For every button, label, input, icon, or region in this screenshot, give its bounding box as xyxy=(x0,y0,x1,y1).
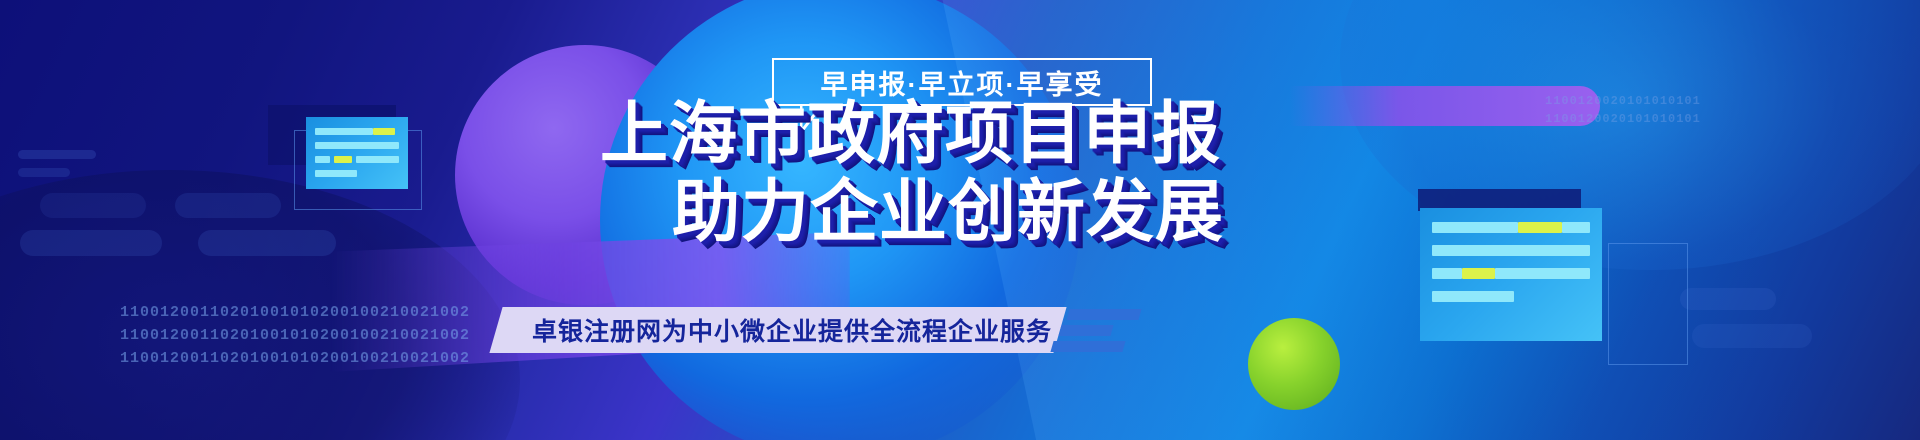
tagline-stripe xyxy=(1066,309,1141,320)
green-accent-circle xyxy=(1248,318,1340,410)
doc-card-row xyxy=(1432,245,1590,256)
doc-bar-yellow xyxy=(1462,268,1495,279)
doc-card-row xyxy=(1432,291,1590,302)
ghost-pill-decor xyxy=(1692,324,1812,348)
doc-bar-cyan xyxy=(1432,268,1462,279)
headline-line-2: 助力企业创新发展 xyxy=(0,178,1340,246)
binary-code-decor-right: 1100120020101010101 1100120020101010101 xyxy=(1545,92,1701,128)
headline-line-1: 上海市政府项目申报 xyxy=(0,100,1340,168)
doc-bar-yellow xyxy=(1518,222,1562,233)
headline-block: 上海市政府项目申报 助力企业创新发展 xyxy=(0,100,1340,246)
tagline-label: 卓银注册网为中小微企业提供全流程企业服务 xyxy=(524,307,1060,353)
ghost-pill-decor xyxy=(1680,288,1776,310)
doc-card-outline xyxy=(1608,243,1688,365)
doc-bar-cyan xyxy=(1432,291,1514,302)
promo-banner: 11001200110201001010200100210021002 1100… xyxy=(0,0,1920,440)
doc-card-row xyxy=(1432,268,1590,279)
doc-bar-cyan xyxy=(1562,222,1590,233)
binary-code-decor-left: 11001200110201001010200100210021002 1100… xyxy=(120,302,470,370)
tagline-stripe xyxy=(1058,325,1113,336)
doc-bar-cyan xyxy=(1432,222,1518,233)
doc-card-row xyxy=(1432,222,1590,233)
doc-bar-cyan xyxy=(1432,245,1590,256)
doc-bar-cyan xyxy=(1495,268,1590,279)
doc-card-body xyxy=(1420,208,1602,341)
tagline-stripe xyxy=(1050,341,1125,352)
